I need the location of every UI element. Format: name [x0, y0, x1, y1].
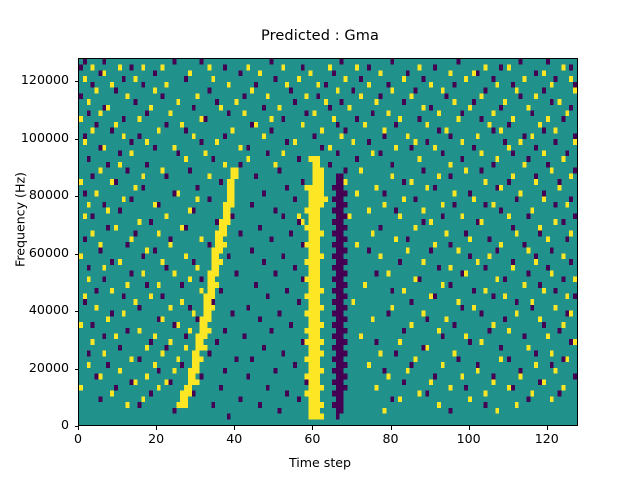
heatmap-plot-area: [78, 58, 578, 426]
y-tick-mark: [75, 369, 79, 370]
matplotlib-figure: Predicted : Gma 020000400006000080000100…: [0, 0, 640, 480]
y-tick-label: 100000: [0, 132, 69, 145]
x-tick-mark: [78, 426, 79, 430]
y-tick-mark: [75, 81, 79, 82]
x-tick-mark: [156, 426, 157, 430]
x-tick-mark: [547, 426, 548, 430]
y-tick-label: 80000: [0, 189, 69, 202]
x-axis-label: Time step: [0, 455, 640, 470]
y-tick-label: 20000: [0, 362, 69, 375]
x-tick-label: 120: [507, 433, 587, 446]
y-tick-label: 120000: [0, 74, 69, 87]
y-tick-mark: [75, 139, 79, 140]
x-tick-mark: [234, 426, 235, 430]
x-tick-label: 40: [194, 433, 274, 446]
y-tick-mark: [75, 311, 79, 312]
x-tick-label: 100: [429, 433, 509, 446]
y-tick-label: 0: [0, 419, 69, 432]
x-tick-label: 80: [351, 433, 431, 446]
x-tick-label: 20: [116, 433, 196, 446]
x-tick-mark: [391, 426, 392, 430]
x-tick-mark: [469, 426, 470, 430]
y-tick-mark: [75, 196, 79, 197]
x-tick-label: 60: [272, 433, 352, 446]
heatmap-canvas: [79, 59, 577, 425]
x-tick-label: 0: [38, 433, 118, 446]
y-tick-mark: [75, 254, 79, 255]
y-tick-label: 40000: [0, 304, 69, 317]
y-axis-label: Frequency (Hz): [13, 140, 28, 300]
page-title: Predicted : Gma: [0, 28, 640, 44]
x-tick-mark: [312, 426, 313, 430]
y-tick-label: 60000: [0, 247, 69, 260]
